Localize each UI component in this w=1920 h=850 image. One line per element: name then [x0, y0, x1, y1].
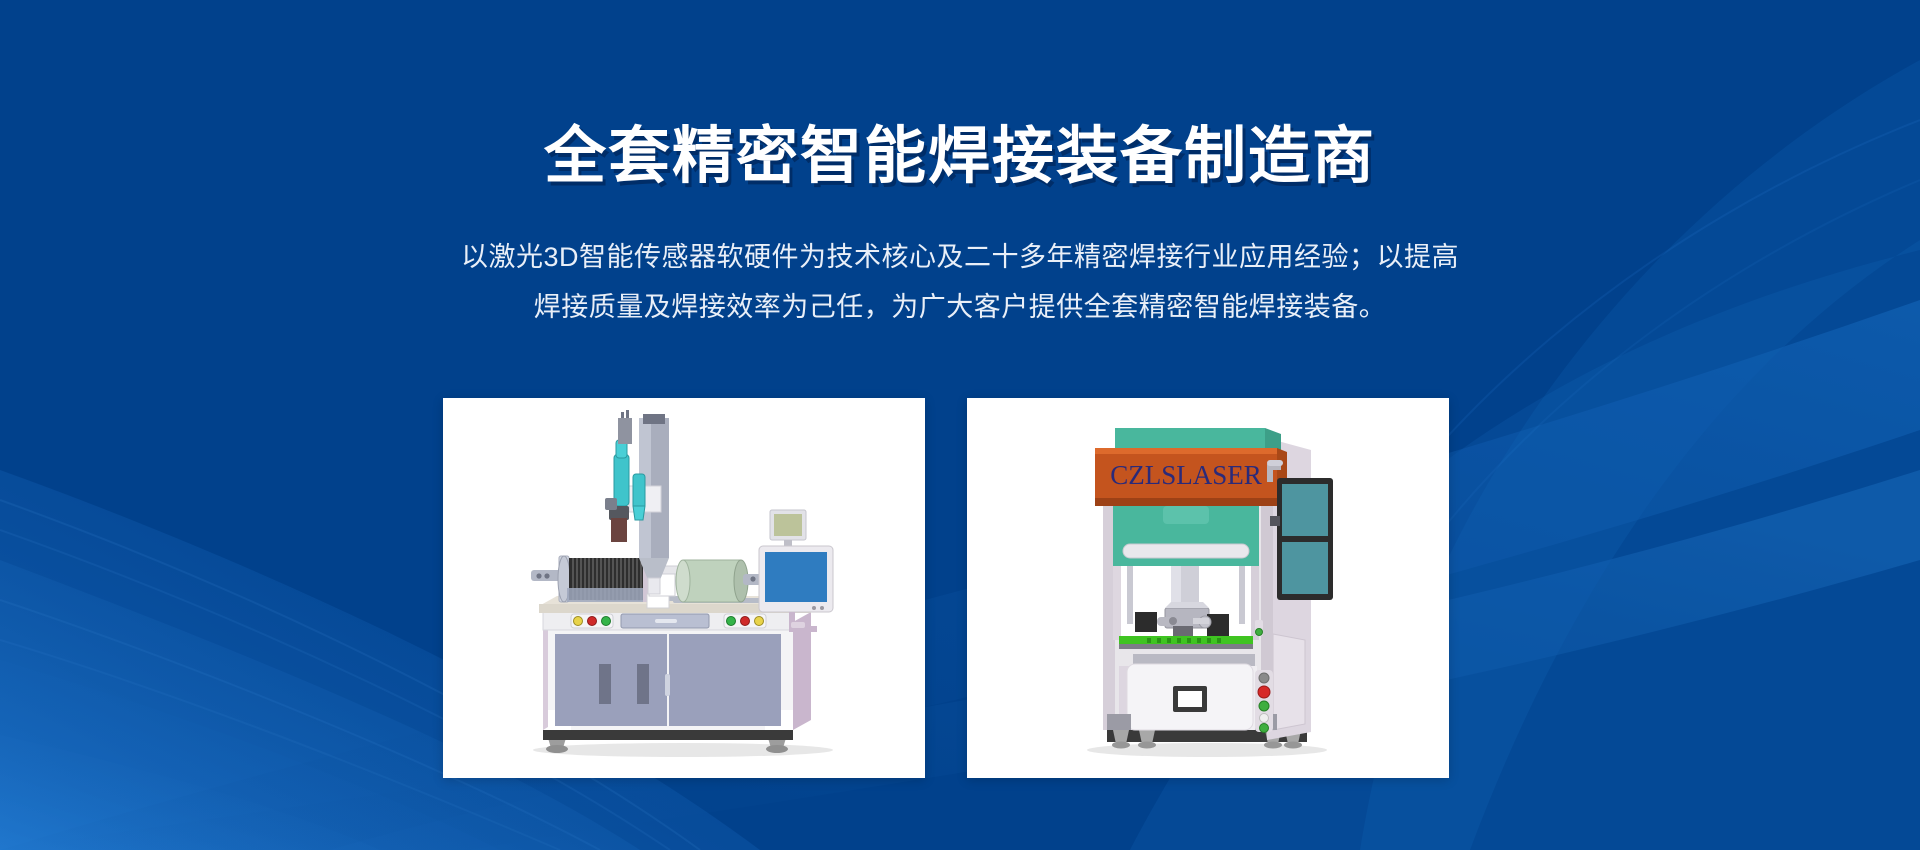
- product-gallery: laser welding workstation with rotary fi…: [443, 398, 1449, 778]
- product-image-left[interactable]: laser welding workstation with rotary fi…: [443, 398, 925, 778]
- welding-workstation-illustration: [443, 398, 925, 778]
- subtitle-block: 以激光3D智能传感器软硬件为技术核心及二十多年精密焊接行业应用经验；以提高 焊接…: [405, 232, 1515, 332]
- hero-banner: 全套精密智能焊接装备制造商 以激光3D智能传感器软硬件为技术核心及二十多年精密焊…: [0, 0, 1920, 850]
- subtitle-line-2: 焊接质量及焊接效率为己任，为广大客户提供全套精密智能焊接装备。: [405, 282, 1515, 332]
- brand-logo-text: CZLSLASER: [1110, 460, 1262, 490]
- banner-content: 全套精密智能焊接装备制造商 以激光3D智能传感器软硬件为技术核心及二十多年精密焊…: [0, 0, 1920, 850]
- vertical-laser-welder-illustration: CZLSLASER: [967, 398, 1449, 778]
- page-title: 全套精密智能焊接装备制造商: [0, 120, 1920, 194]
- product-image-right[interactable]: vertical enclosed laser welding machine …: [967, 398, 1449, 778]
- subtitle-line-1: 以激光3D智能传感器软硬件为技术核心及二十多年精密焊接行业应用经验；以提高: [405, 232, 1515, 282]
